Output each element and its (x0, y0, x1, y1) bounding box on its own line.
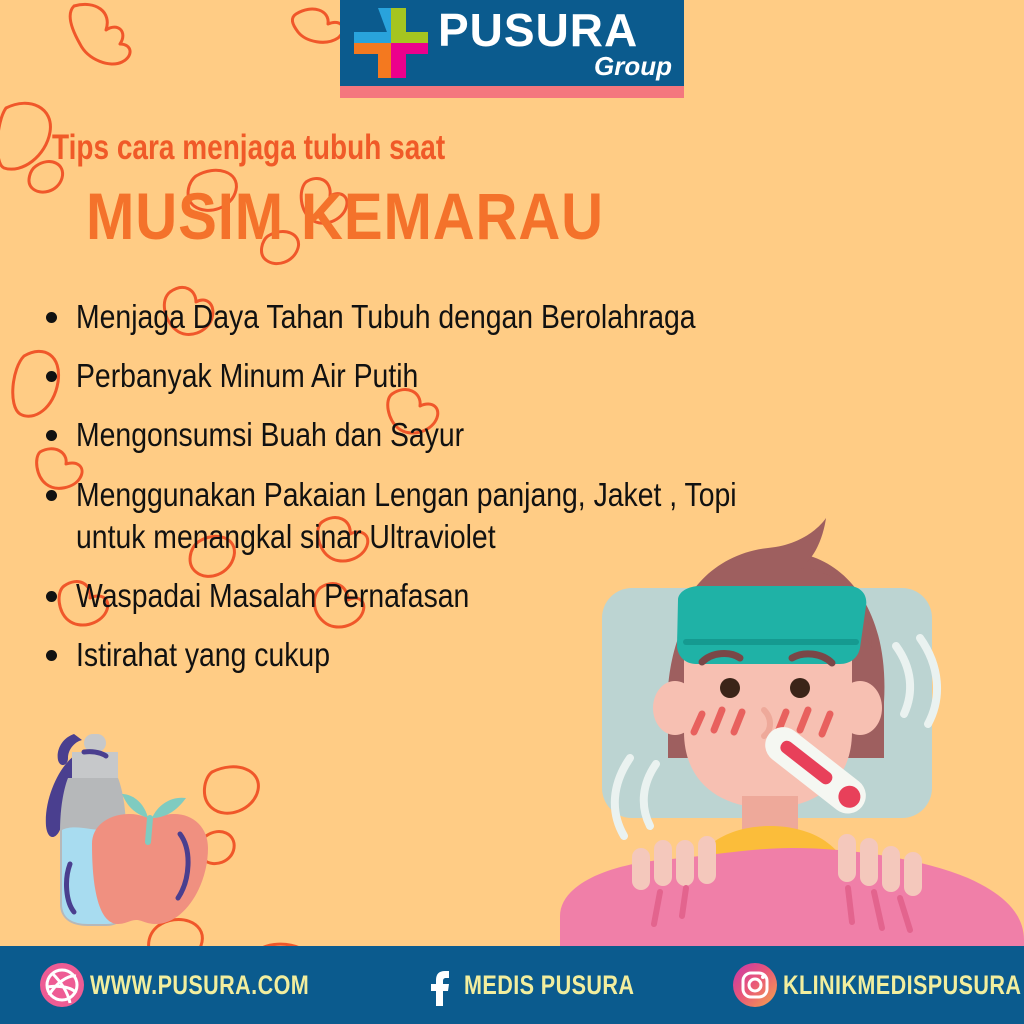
logo-accent-strip (340, 86, 684, 98)
brand-logo: PUSURA Group (340, 0, 684, 98)
footer-item-facebook[interactable]: MEDIS PUSURA (420, 946, 677, 1024)
tip-text: Menggunakan Pakaian Lengan panjang, Jake… (76, 474, 800, 558)
tip-text: Menjaga Daya Tahan Tubuh dengan Berolahr… (76, 296, 800, 338)
list-item: Menjaga Daya Tahan Tubuh dengan Berolahr… (38, 296, 918, 338)
tip-text: Istirahat yang cukup (76, 634, 800, 676)
poster-canvas: PUSURA Group Tips cara menjaga tubuh saa… (0, 0, 1024, 1024)
dribbble-globe-icon (38, 961, 86, 1009)
tips-list: Menjaga Daya Tahan Tubuh dengan Berolahr… (38, 296, 918, 694)
list-item: Istirahat yang cukup (38, 634, 918, 676)
logo-brand-name: PUSURA (438, 9, 638, 53)
page-title: MUSIM KEMARAU (86, 178, 604, 254)
footer-instagram-label: KLINIKMEDISPUSURA (783, 970, 1021, 1001)
tip-text: Mengonsumsi Buah dan Sayur (76, 414, 800, 456)
footer-bar: WWW.PUSURA.COM MEDIS PUSURA (0, 946, 1024, 1024)
list-item: Waspadai Masalah Pernafasan (38, 575, 918, 617)
tip-text: Perbanyak Minum Air Putih (76, 355, 800, 397)
footer-item-website[interactable]: WWW.PUSURA.COM (38, 946, 364, 1024)
medical-cross-icon (352, 6, 430, 80)
kicker-text: Tips cara menjaga tubuh saat (52, 128, 445, 168)
logo-brand-subtitle: Group (594, 53, 678, 79)
facebook-icon (420, 961, 460, 1009)
footer-facebook-label: MEDIS PUSURA (464, 970, 634, 1001)
list-item: Perbanyak Minum Air Putih (38, 355, 918, 397)
footer-item-instagram[interactable]: KLINIKMEDISPUSURA (731, 946, 1024, 1024)
list-item: Mengonsumsi Buah dan Sayur (38, 414, 918, 456)
list-item: Menggunakan Pakaian Lengan panjang, Jake… (38, 474, 918, 558)
tip-text: Waspadai Masalah Pernafasan (76, 575, 800, 617)
instagram-icon (731, 961, 779, 1009)
footer-website-label: WWW.PUSURA.COM (90, 970, 309, 1001)
water-bottle-and-apple-illustration (22, 722, 222, 954)
